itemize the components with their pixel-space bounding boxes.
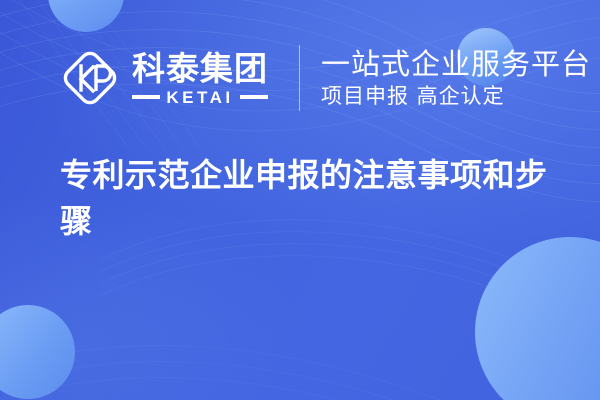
tagline-sub: 项目申报 高企认定	[321, 83, 591, 109]
logo-name-cn: 科泰集团	[132, 51, 268, 87]
tagline-main: 一站式企业服务平台	[321, 47, 591, 81]
logo-name-en: KETAI	[166, 89, 233, 106]
kp-diamond-monogram-icon	[60, 48, 120, 108]
company-logo[interactable]: 科泰集团 KETAI	[60, 48, 268, 108]
logo-dash-left	[132, 95, 160, 99]
promo-banner: 科泰集团 KETAI 一站式企业服务平台 项目申报 高企认定 专利示范企业申报的…	[0, 0, 600, 400]
logo-name-en-row: KETAI	[132, 89, 268, 106]
page-title: 专利示范企业申报的注意事项和步骤	[60, 152, 556, 244]
banner-header: 科泰集团 KETAI 一站式企业服务平台 项目申报 高企认定	[0, 40, 600, 116]
logo-dash-right	[240, 95, 268, 99]
header-divider	[299, 45, 300, 111]
tagline-block: 一站式企业服务平台 项目申报 高企认定	[321, 47, 591, 109]
